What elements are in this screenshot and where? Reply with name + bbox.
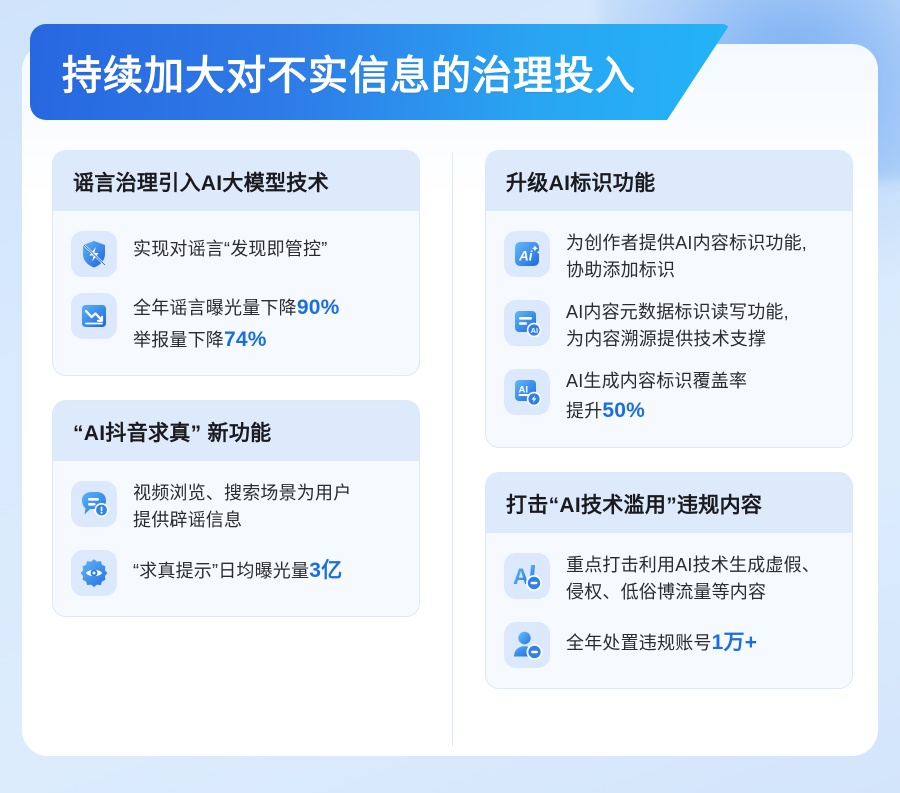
card-header: 谣言治理引入AI大模型技术 bbox=[53, 151, 419, 211]
feature-text: 视频浏览、搜索场景为用户提供辟谣信息 bbox=[133, 479, 351, 534]
page-title: 持续加大对不实信息的治理投入 bbox=[62, 43, 636, 101]
chart-down-trend-icon bbox=[71, 293, 117, 339]
feature-row: AI AI内容元数据标识读写功能,为内容溯源提供技术支撑 bbox=[504, 298, 834, 353]
feature-text: 全年处置违规账号1万+ bbox=[566, 620, 757, 659]
info-card: “AI抖音求真” 新功能 视频浏览、搜索场景为用户提供辟谣信息 “求真提示”日均… bbox=[52, 400, 420, 617]
ai-metadata-document-icon: AI bbox=[504, 300, 550, 346]
feature-text-line: 重点打击利用AI技术生成虚假、 bbox=[566, 552, 820, 579]
stat-highlight: 90% bbox=[297, 296, 340, 319]
feature-row: 全年谣言曝光量下降90%举报量下降74% bbox=[71, 291, 401, 355]
feature-row: 实现对谣言“发现即管控” bbox=[71, 229, 401, 277]
stat-highlight: 3亿 bbox=[309, 559, 342, 582]
info-card: 打击“AI技术滥用”违规内容 A 重点打击利用AI技术生成虚假、侵权、低俗博流量… bbox=[485, 472, 853, 689]
feature-text: 重点打击利用AI技术生成虚假、侵权、低俗博流量等内容 bbox=[566, 551, 820, 606]
text-fragment: 重点打击利用AI技术生成虚假、 bbox=[566, 555, 820, 575]
text-fragment: 全年谣言曝光量下降 bbox=[133, 298, 297, 318]
text-fragment: “求真提示”日均曝光量 bbox=[133, 561, 309, 581]
user-block-icon bbox=[504, 622, 550, 668]
ai-block-icon: A bbox=[504, 553, 550, 599]
feature-text: “求真提示”日均曝光量3亿 bbox=[133, 548, 342, 587]
feature-row: “求真提示”日均曝光量3亿 bbox=[71, 548, 401, 596]
text-fragment: 侵权、低俗博流量等内容 bbox=[566, 582, 766, 602]
text-fragment: 提供辟谣信息 bbox=[133, 510, 242, 530]
feature-text: AI生成内容标识覆盖率提升50% bbox=[566, 367, 747, 427]
info-card: 升级AI标识功能 Ai 为创作者提供AI内容标识功能,协助添加标识 AI AI内… bbox=[485, 150, 853, 448]
feature-text-line: 实现对谣言“发现即管控” bbox=[133, 236, 327, 263]
feature-text-line: 为内容溯源提供技术支撑 bbox=[566, 326, 789, 353]
text-fragment: AI内容元数据标识读写功能, bbox=[566, 302, 789, 322]
text-fragment: 实现对谣言“发现即管控” bbox=[133, 239, 327, 259]
feature-row: Ai 为创作者提供AI内容标识功能,协助添加标识 bbox=[504, 229, 834, 284]
feature-text-line: 全年谣言曝光量下降90% bbox=[133, 292, 339, 324]
card-body: 实现对谣言“发现即管控” 全年谣言曝光量下降90%举报量下降74% bbox=[53, 211, 419, 375]
feature-text-line: “求真提示”日均曝光量3亿 bbox=[133, 555, 342, 587]
card-body: A 重点打击利用AI技术生成虚假、侵权、低俗博流量等内容 全年处置违规账号1万+ bbox=[486, 533, 852, 688]
ai-coverage-bolt-icon: AI bbox=[504, 369, 550, 415]
text-fragment: 全年处置违规账号 bbox=[566, 633, 712, 653]
svg-text:Ai: Ai bbox=[518, 249, 533, 264]
feature-text-line: 举报量下降74% bbox=[133, 324, 339, 356]
text-fragment: 举报量下降 bbox=[133, 330, 224, 350]
feature-row: 全年处置违规账号1万+ bbox=[504, 620, 834, 668]
stat-highlight: 74% bbox=[224, 328, 267, 351]
card-header: 打击“AI技术滥用”违规内容 bbox=[486, 473, 852, 533]
right-column: 升级AI标识功能 Ai 为创作者提供AI内容标识功能,协助添加标识 AI AI内… bbox=[485, 150, 853, 713]
chat-bubble-alert-icon bbox=[71, 481, 117, 527]
feature-text: 实现对谣言“发现即管控” bbox=[133, 229, 327, 263]
feature-text: 为创作者提供AI内容标识功能,协助添加标识 bbox=[566, 229, 807, 284]
card-body: 视频浏览、搜索场景为用户提供辟谣信息 “求真提示”日均曝光量3亿 bbox=[53, 461, 419, 616]
feature-text-line: 协助添加标识 bbox=[566, 257, 807, 284]
feature-text-line: 侵权、低俗博流量等内容 bbox=[566, 579, 820, 606]
svg-text:AI: AI bbox=[519, 385, 529, 396]
card-body: Ai 为创作者提供AI内容标识功能,协助添加标识 AI AI内容元数据标识读写功… bbox=[486, 211, 852, 447]
feature-text-line: 提供辟谣信息 bbox=[133, 507, 351, 534]
feature-text: 全年谣言曝光量下降90%举报量下降74% bbox=[133, 291, 339, 355]
text-fragment: 协助添加标识 bbox=[566, 260, 675, 280]
info-card: 谣言治理引入AI大模型技术 实现对谣言“发现即管控” 全年谣言曝光量下降90%举… bbox=[52, 150, 420, 376]
eye-badge-icon bbox=[71, 550, 117, 596]
card-header: 升级AI标识功能 bbox=[486, 151, 852, 211]
svg-text:AI: AI bbox=[531, 326, 539, 335]
stat-highlight: 50% bbox=[602, 399, 645, 422]
feature-text: AI内容元数据标识读写功能,为内容溯源提供技术支撑 bbox=[566, 298, 789, 353]
card-title: 谣言治理引入AI大模型技术 bbox=[73, 167, 399, 197]
title-banner: 持续加大对不实信息的治理投入 bbox=[30, 24, 730, 120]
card-title: 升级AI标识功能 bbox=[506, 167, 832, 197]
feature-text-line: 全年处置违规账号1万+ bbox=[566, 627, 757, 659]
text-fragment: 为内容溯源提供技术支撑 bbox=[566, 329, 766, 349]
feature-text-line: 为创作者提供AI内容标识功能, bbox=[566, 230, 807, 257]
text-fragment: 为创作者提供AI内容标识功能, bbox=[566, 233, 807, 253]
text-fragment: 视频浏览、搜索场景为用户 bbox=[133, 483, 351, 503]
card-header: “AI抖音求真” 新功能 bbox=[53, 401, 419, 461]
feature-row: AI AI生成内容标识覆盖率提升50% bbox=[504, 367, 834, 427]
feature-text-line: 视频浏览、搜索场景为用户 bbox=[133, 480, 351, 507]
text-fragment: AI生成内容标识覆盖率 bbox=[566, 371, 747, 391]
feature-row: A 重点打击利用AI技术生成虚假、侵权、低俗博流量等内容 bbox=[504, 551, 834, 606]
column-divider bbox=[452, 152, 453, 746]
feature-text-line: AI生成内容标识覆盖率 bbox=[566, 368, 747, 395]
card-title: “AI抖音求真” 新功能 bbox=[73, 417, 399, 447]
card-title: 打击“AI技术滥用”违规内容 bbox=[506, 489, 832, 519]
stat-highlight: 1万+ bbox=[712, 631, 758, 654]
feature-text-line: 提升50% bbox=[566, 395, 747, 427]
feature-text-line: AI内容元数据标识读写功能, bbox=[566, 299, 789, 326]
left-column: 谣言治理引入AI大模型技术 实现对谣言“发现即管控” 全年谣言曝光量下降90%举… bbox=[52, 150, 420, 641]
text-fragment: 提升 bbox=[566, 401, 602, 421]
shield-slash-bolt-icon bbox=[71, 231, 117, 277]
ai-sparkle-icon: Ai bbox=[504, 231, 550, 277]
feature-row: 视频浏览、搜索场景为用户提供辟谣信息 bbox=[71, 479, 401, 534]
